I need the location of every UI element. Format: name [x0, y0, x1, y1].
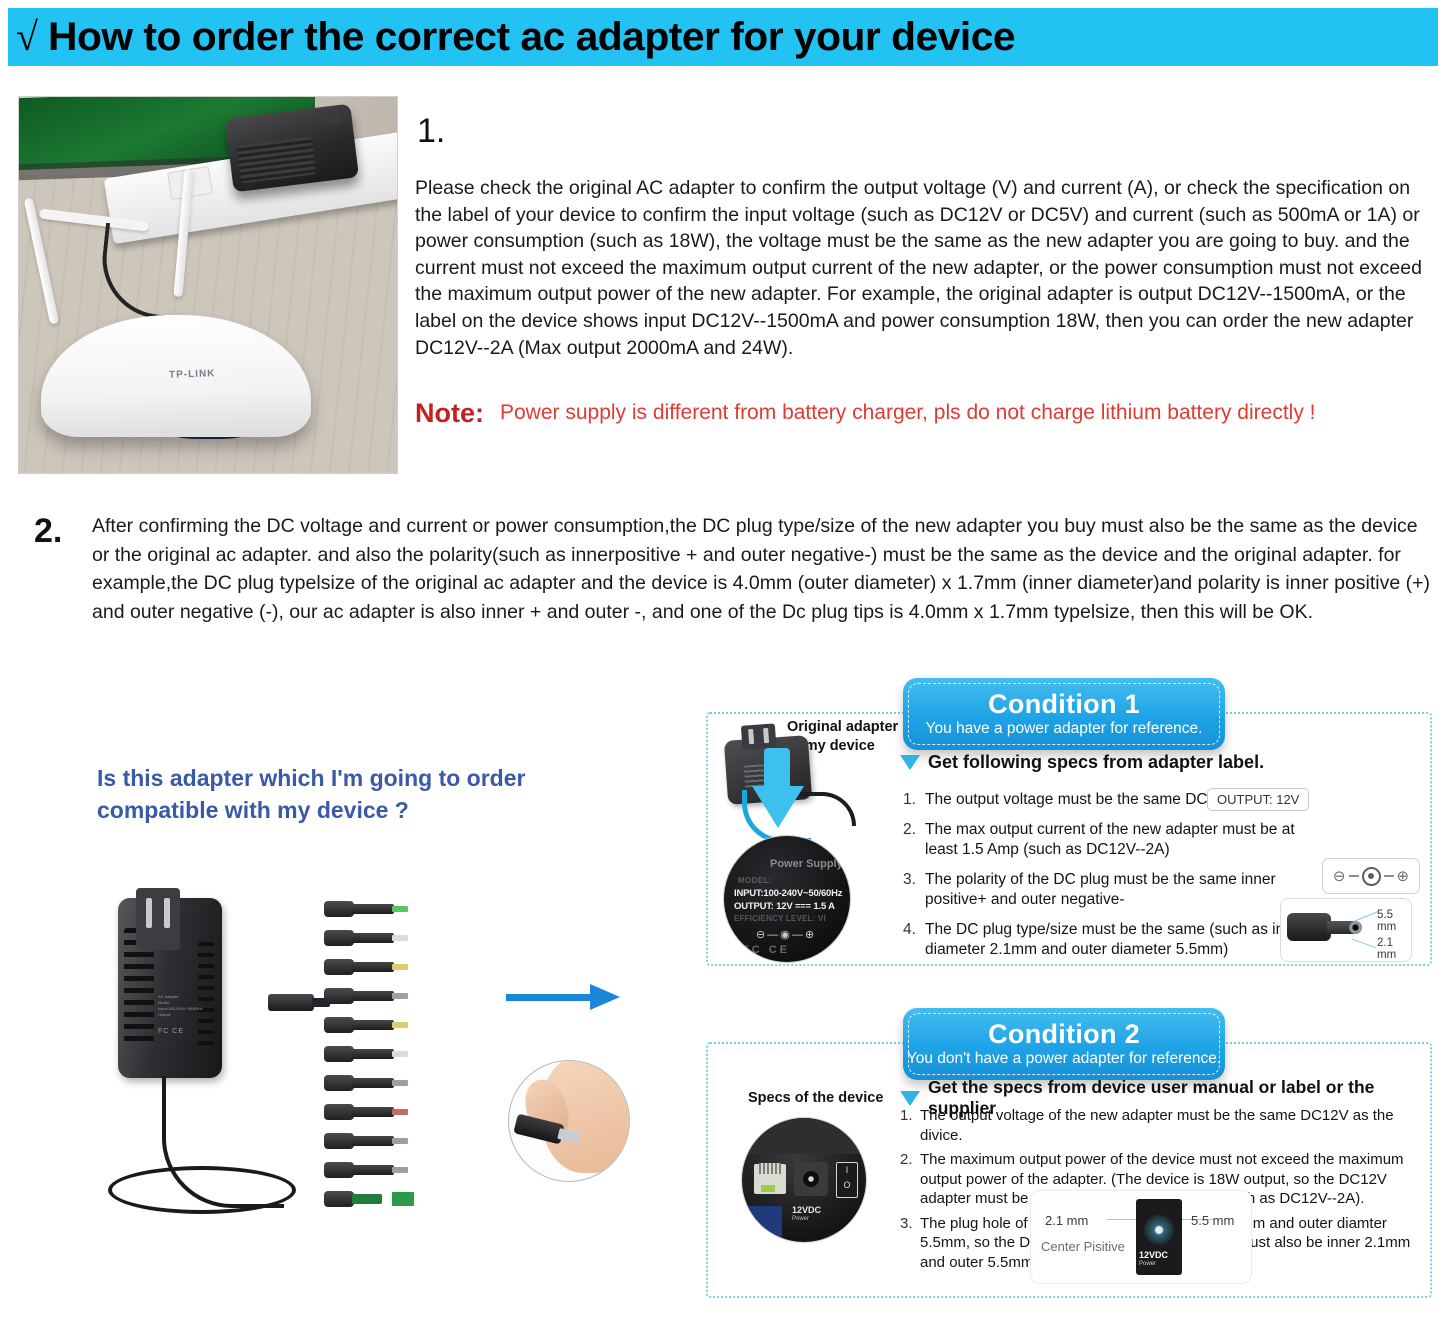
- checkmark-icon: √: [16, 17, 38, 57]
- adapter-label-output: Output:: [158, 1012, 210, 1018]
- power-switch: IO: [836, 1162, 858, 1198]
- dc-tip: [324, 983, 434, 1009]
- plugged-adapter: [225, 104, 359, 193]
- magnifier-arrow-icon: [752, 786, 804, 828]
- magnified-title: Power Supply: [770, 858, 843, 870]
- magnified-input: INPUT:100-240V~50/60Hz: [734, 888, 842, 899]
- dc-tip: [324, 1012, 434, 1038]
- item-text: The max output current of the new adapte…: [925, 820, 1323, 861]
- device-specs-caption: Specs of the device: [748, 1089, 883, 1108]
- arrow-right-icon: [506, 985, 626, 1009]
- adapter-wall-prongs: [136, 888, 180, 950]
- magnified-efficiency: EFFICIENCY LEVEL: VI: [734, 914, 826, 923]
- item-text: The output voltage must be the same DC12…: [925, 790, 1235, 811]
- adapter-cord-coil: [108, 1166, 296, 1214]
- dc-tip-set: [324, 896, 434, 1215]
- triangle-down-icon: [900, 1091, 920, 1106]
- item-text: The DC plug type/size must be the same (…: [925, 920, 1323, 961]
- outer-diameter-leader: [1354, 911, 1378, 922]
- router-photo: TP-LINK: [18, 96, 398, 474]
- jack-inner-diameter-label: 2.1 mm: [1045, 1213, 1088, 1228]
- jack-outer-diameter-label: 5.5 mm: [1191, 1213, 1234, 1228]
- jack-rim: [1144, 1215, 1174, 1245]
- adapter-label-text: AC Adapter Model: Input:100-240V~50/60Hz…: [158, 994, 210, 1018]
- condition-1-list: 1. The output voltage must be the same D…: [903, 790, 1323, 970]
- condition-1-title: Condition 1: [988, 690, 1140, 719]
- step-1-body: Please check the original AC adapter to …: [415, 175, 1430, 361]
- dc-tip: [324, 1041, 434, 1067]
- note-text: Power supply is different from battery c…: [500, 398, 1316, 428]
- dc-screw-terminal: [324, 1186, 434, 1212]
- inner-diameter-leader: [1352, 939, 1377, 949]
- dc-jack-label-sub: Power: [792, 1215, 821, 1224]
- hand-holding-plug-photo: [508, 1060, 630, 1182]
- item-number: 3.: [903, 870, 925, 911]
- dc-tip: [324, 925, 434, 951]
- item-number: 4.: [903, 920, 925, 961]
- device-top-edge: [742, 1118, 866, 1154]
- plug-outer-diameter-label: 5.5 mm: [1377, 909, 1411, 933]
- item-number: 1.: [900, 1106, 920, 1145]
- condition-1-banner: Condition 1 You have a power adapter for…: [903, 678, 1225, 750]
- note-row: Note: Power supply is different from bat…: [415, 398, 1316, 428]
- dc-tip: [324, 1157, 434, 1183]
- adapter-label-magnifier: Power Supply MODEL: INPUT:100-240V~50/60…: [724, 836, 850, 962]
- dc-tip: [324, 954, 434, 980]
- condition-2-title: Condition 2: [988, 1020, 1140, 1049]
- dc-polarity-icon: ⊖⊕: [1322, 858, 1420, 894]
- magnified-certs: FC CE: [742, 944, 790, 956]
- item-number: 1.: [903, 790, 925, 811]
- step-1-number: 1.: [417, 112, 445, 151]
- page-header: √ How to order the correct ac adapter fo…: [8, 8, 1438, 66]
- adapter-cert-marks: FC CE: [158, 1028, 184, 1035]
- magnified-model: MODEL:: [738, 876, 772, 885]
- jack-illustration: 12VDC Power: [1136, 1199, 1182, 1275]
- jack-label: 12VDC Power: [1139, 1251, 1168, 1269]
- plug-body: [1287, 913, 1331, 941]
- condition-1-specs-heading-text: Get following specs from adapter label.: [928, 752, 1264, 773]
- compatibility-question: Is this adapter which I'm going to order…: [97, 762, 597, 826]
- magnified-output: OUTPUT: 12V === 1.5 A: [734, 901, 835, 912]
- jack-polarity-label: Center Pisitive: [1041, 1239, 1125, 1254]
- magnifier-arrow-tail: [764, 748, 790, 790]
- item-text: The polarity of the DC plug must be the …: [925, 870, 1323, 911]
- router-logo: TP-LINK: [169, 368, 216, 381]
- dc-jack-label: 12VDC Power: [792, 1206, 821, 1224]
- item-number: 2.: [903, 820, 925, 861]
- list-item: 2. The max output current of the new ada…: [903, 820, 1323, 861]
- dc-tip: [324, 1099, 434, 1125]
- adapter-product-photo: AC Adapter Model: Input:100-240V~50/60Hz…: [100, 880, 430, 1210]
- device-ports-photo: IO 12VDC Power: [742, 1118, 866, 1242]
- item-number: 2.: [900, 1150, 920, 1209]
- condition-2-subtitle: You don't have a power adapter for refer…: [907, 1049, 1221, 1068]
- item-number: 3.: [900, 1214, 920, 1273]
- output-voltage-badge: OUTPUT: 12V: [1207, 788, 1309, 811]
- magnified-polarity-icon: ⊖—◉—⊕: [756, 928, 814, 941]
- hand: [541, 1060, 629, 1173]
- dc-jack-label-text: 12VDC: [792, 1205, 821, 1215]
- condition-2-banner: Condition 2 You don't have a power adapt…: [903, 1008, 1225, 1080]
- condition-1-specs-heading: Get following specs from adapter label.: [900, 752, 1264, 773]
- dc-tip: [324, 1128, 434, 1154]
- list-item: 4. The DC plug type/size must be the sam…: [903, 920, 1323, 961]
- list-item: 1. The output voltage of the new adapter…: [900, 1106, 1430, 1145]
- plug-ring: [1349, 921, 1362, 934]
- step-2-body: After confirming the DC voltage and curr…: [92, 512, 1432, 626]
- step-2-number: 2.: [34, 512, 62, 551]
- dc-tip: [324, 896, 434, 922]
- note-label: Note:: [415, 398, 484, 428]
- device-blue-panel: [748, 1206, 782, 1242]
- jack-label-text: 12VDC: [1139, 1250, 1168, 1260]
- jack-label-sub: Power: [1139, 1260, 1168, 1269]
- item-text: The output voltage of the new adapter mu…: [920, 1106, 1430, 1145]
- plug-inner-diameter-label: 2.1 mm: [1377, 937, 1411, 961]
- device-jack-size-diagram: 2.1 mm 5.5 mm Center Pisitive 12VDC Powe…: [1030, 1190, 1252, 1284]
- dc-jack: [794, 1162, 828, 1196]
- triangle-down-icon: [900, 755, 920, 770]
- page-title: How to order the correct ac adapter for …: [48, 15, 1015, 60]
- condition-1-subtitle: You have a power adapter for reference.: [926, 719, 1203, 738]
- list-item: 3. The polarity of the DC plug must be t…: [903, 870, 1323, 911]
- adapter-dc-tip: [268, 994, 314, 1011]
- dc-tip: [324, 1070, 434, 1096]
- ethernet-port: [754, 1164, 786, 1194]
- plug-size-diagram: 5.5 mm 2.1 mm: [1280, 898, 1412, 962]
